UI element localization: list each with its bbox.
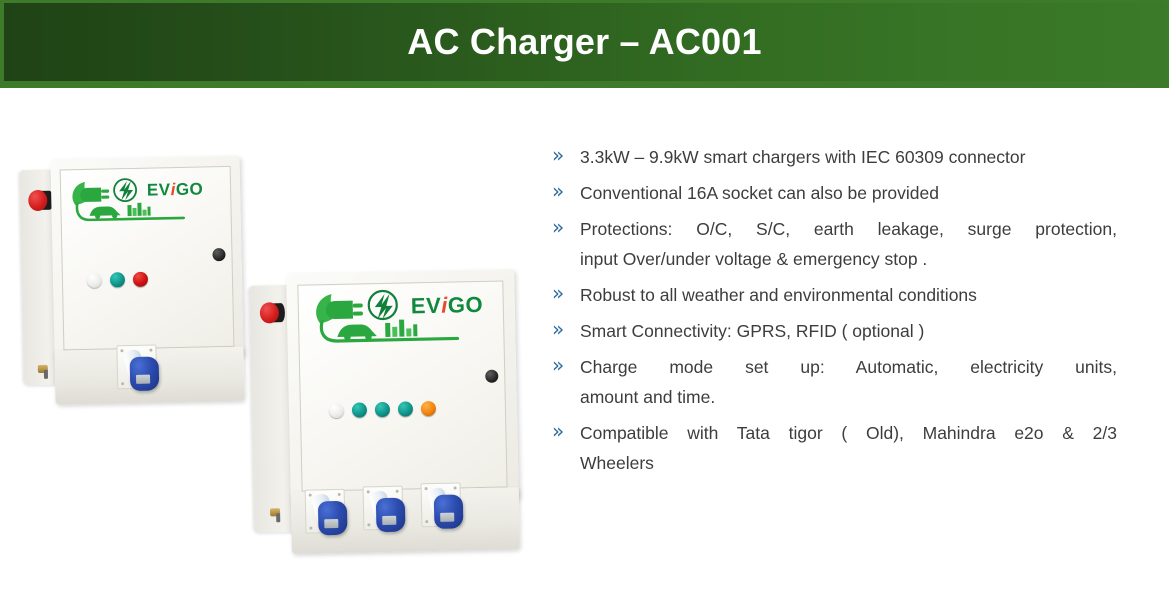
socket-screw bbox=[149, 349, 152, 352]
feature-text: Smart Connectivity: GPRS, RFID ( optiona… bbox=[580, 316, 1117, 346]
chevron-right-double-icon: » bbox=[552, 178, 580, 204]
socket-label bbox=[382, 516, 396, 525]
indicator-light-row-right bbox=[329, 401, 436, 418]
socket-screw bbox=[309, 494, 312, 497]
list-item: » Smart Connectivity: GPRS, RFID ( optio… bbox=[552, 316, 1117, 346]
evigo-go-text: GO bbox=[176, 179, 204, 199]
socket-screw bbox=[121, 382, 124, 385]
socket-screw bbox=[120, 349, 123, 352]
right-charger-front-panel: EViGO bbox=[286, 269, 519, 503]
feature-text: Protections: O/C, S/C, earth leakage, su… bbox=[580, 214, 1117, 274]
iec-60309-socket[interactable] bbox=[305, 489, 352, 542]
iec-60309-socket[interactable] bbox=[421, 483, 468, 536]
emergency-stop-button-right[interactable] bbox=[260, 302, 286, 325]
feature-text-line-2: Wheelers bbox=[580, 453, 654, 473]
iec-60309-socket[interactable] bbox=[363, 486, 410, 539]
list-item: » Robust to all weather and environmenta… bbox=[552, 280, 1117, 310]
socket-label bbox=[136, 375, 150, 384]
socket-screw bbox=[309, 527, 312, 530]
list-item: » Conventional 16A socket can also be pr… bbox=[552, 178, 1117, 208]
feature-text: Conventional 16A socket can also be prov… bbox=[580, 178, 1117, 208]
chevron-right-double-icon: » bbox=[552, 142, 580, 168]
feature-text-line-1: Charge mode set up: Automatic, electrici… bbox=[580, 352, 1117, 382]
feature-text-line-1: Protections: O/C, S/C, earth leakage, su… bbox=[580, 214, 1117, 244]
feature-text: 3.3kW – 9.9kW smart chargers with IEC 60… bbox=[580, 142, 1117, 172]
socket-screw bbox=[396, 490, 399, 493]
chevron-right-double-icon: » bbox=[552, 418, 580, 444]
chevron-right-double-icon: » bbox=[552, 352, 580, 378]
indicator-light-teal-2 bbox=[375, 402, 390, 417]
feature-text-line-2: input Over/under voltage & emergency sto… bbox=[580, 249, 927, 269]
evigo-wordmark-left: EViGO bbox=[147, 179, 204, 200]
list-item: » Charge mode set up: Automatic, electri… bbox=[552, 352, 1117, 412]
page-title: AC Charger – AC001 bbox=[4, 3, 1165, 81]
feature-list: » 3.3kW – 9.9kW smart chargers with IEC … bbox=[552, 142, 1117, 484]
left-charger-socket-skirt bbox=[54, 347, 244, 405]
evigo-logo-left: EViGO bbox=[65, 172, 216, 233]
chevron-right-double-icon: » bbox=[552, 214, 580, 240]
indicator-light-teal-3 bbox=[398, 401, 413, 416]
list-item: » Compatible with Tata tigor ( Old), Mah… bbox=[552, 418, 1117, 478]
cable-gland-left bbox=[38, 365, 54, 377]
cable-gland-stem bbox=[276, 513, 280, 522]
product-image-left-charger: EViGO bbox=[19, 156, 244, 406]
right-charger-socket-skirt bbox=[291, 488, 520, 554]
feature-text-line-1: Compatible with Tata tigor ( Old), Mahin… bbox=[580, 418, 1117, 448]
indicator-light-teal bbox=[110, 272, 125, 287]
evigo-logo-right: EViGO bbox=[306, 284, 497, 356]
socket-screw bbox=[454, 487, 457, 490]
iec-60309-socket[interactable] bbox=[116, 344, 163, 397]
feature-text: Charge mode set up: Automatic, electrici… bbox=[580, 352, 1117, 412]
list-item: » 3.3kW – 9.9kW smart chargers with IEC … bbox=[552, 142, 1117, 172]
evigo-wordmark-right: EViGO bbox=[411, 292, 484, 320]
socket-label bbox=[440, 513, 454, 522]
indicator-light-orange bbox=[421, 401, 436, 416]
socket-screw bbox=[425, 521, 428, 524]
indicator-light-white bbox=[329, 403, 344, 418]
indicator-light-white bbox=[87, 273, 102, 288]
chevron-right-double-icon: » bbox=[552, 280, 580, 306]
socket-screw bbox=[425, 488, 428, 491]
evigo-ev-text: EV bbox=[411, 293, 442, 319]
feature-text: Compatible with Tata tigor ( Old), Mahin… bbox=[580, 418, 1117, 478]
chevron-right-double-icon: » bbox=[552, 316, 580, 342]
cable-gland-stem bbox=[44, 370, 48, 379]
evigo-go-text: GO bbox=[448, 292, 484, 318]
product-image-right-charger: EViGO bbox=[249, 269, 520, 554]
indicator-light-row-left bbox=[87, 272, 148, 288]
indicator-light-red bbox=[133, 272, 148, 287]
socket-screw bbox=[338, 493, 341, 496]
evigo-ev-text: EV bbox=[147, 180, 171, 199]
socket-screw bbox=[367, 524, 370, 527]
header-banner: AC Charger – AC001 bbox=[0, 0, 1169, 88]
indicator-light-teal-1 bbox=[352, 402, 367, 417]
list-item: » Protections: O/C, S/C, earth leakage, … bbox=[552, 214, 1117, 274]
feature-text-line-2: amount and time. bbox=[580, 387, 715, 407]
socket-screw bbox=[367, 491, 370, 494]
feature-text: Robust to all weather and environmental … bbox=[580, 280, 1117, 310]
socket-label bbox=[324, 519, 338, 528]
cable-gland-right bbox=[270, 508, 286, 520]
header-gradient-panel: AC Charger – AC001 bbox=[4, 3, 1165, 81]
left-charger-front-panel: EViGO bbox=[50, 156, 243, 361]
